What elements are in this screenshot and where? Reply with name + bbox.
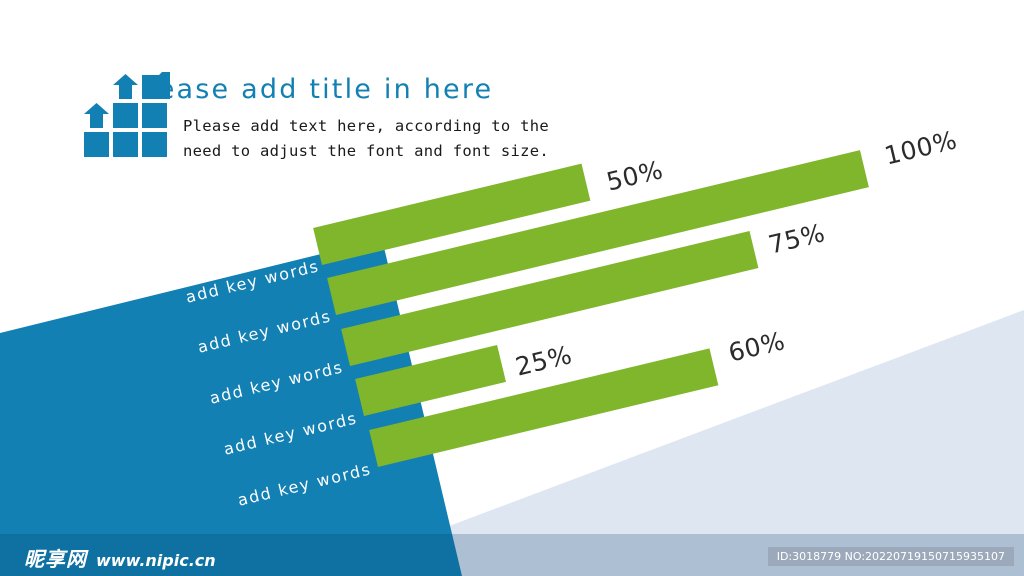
logo-square-m2 bbox=[113, 103, 138, 128]
logo-square-b3 bbox=[142, 132, 167, 157]
bar-5-value-label: 60% bbox=[726, 326, 788, 368]
logo-arrow-up-center-icon bbox=[113, 74, 138, 99]
bar-1-value-label: 50% bbox=[604, 155, 666, 197]
page-body-text: Please add text here, according to the n… bbox=[183, 114, 568, 164]
slide-canvas: 50% 100% 75% 25% 60% add key words add k… bbox=[0, 0, 1024, 576]
keyword-label-4: add key words bbox=[222, 408, 359, 458]
keyword-label-3: add key words bbox=[208, 357, 345, 407]
footer-brand[interactable]: 昵享网 www.nipic.cn bbox=[24, 543, 216, 572]
bar-4-value-label: 25% bbox=[513, 340, 575, 382]
logo-arrow-up-left-icon bbox=[84, 103, 109, 128]
watermark-id: ID:3018779 NO:20220719150715935107 bbox=[768, 547, 1014, 566]
logo-square-m3 bbox=[142, 103, 167, 128]
footer-brand-url: www.nipic.cn bbox=[96, 551, 216, 570]
logo-square-b2 bbox=[113, 132, 138, 157]
keyword-label-1: add key words bbox=[184, 256, 321, 306]
footer-brand-cn: 昵享网 bbox=[24, 543, 87, 572]
logo-square-b1 bbox=[84, 132, 109, 157]
keyword-label-2: add key words bbox=[196, 306, 333, 356]
bar-2-value-label: 100% bbox=[882, 125, 960, 170]
bar-3-value-label: 75% bbox=[766, 218, 828, 260]
keyword-label-5: add key words bbox=[236, 459, 373, 509]
page-title: lease add title in here bbox=[148, 74, 493, 105]
